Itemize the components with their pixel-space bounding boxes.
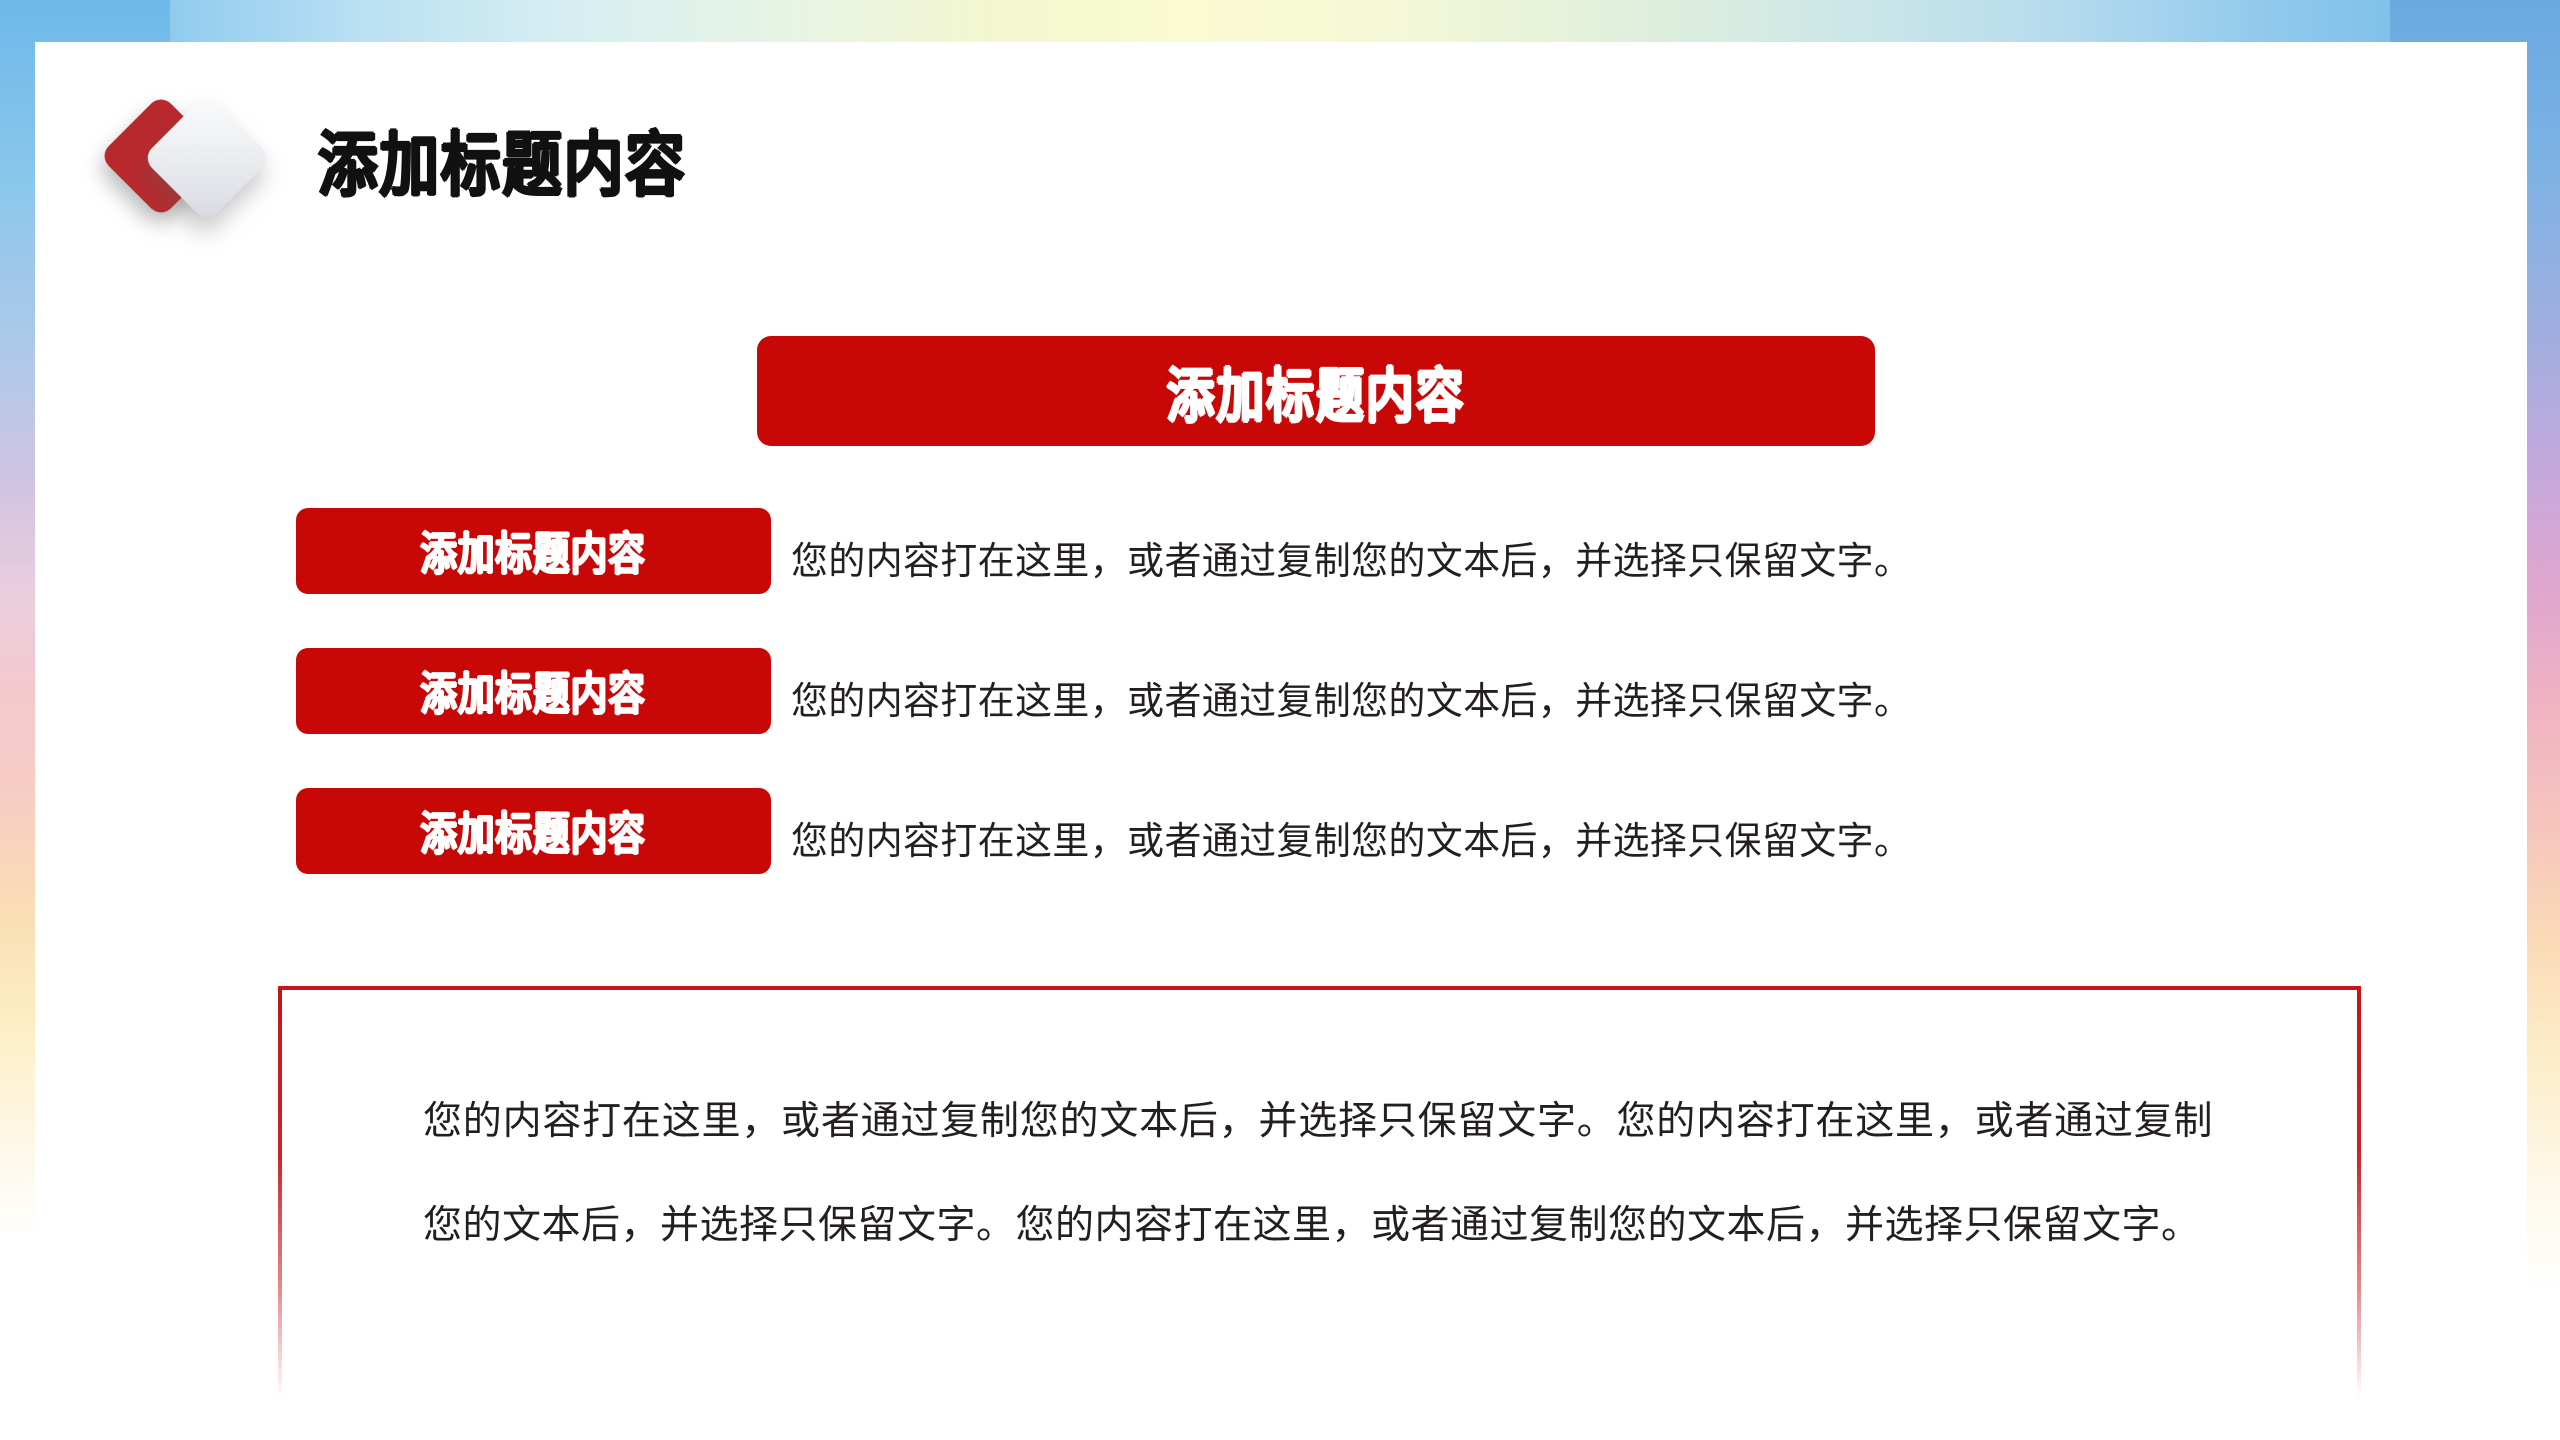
list-item: 添加标题内容 您的内容打在这里，或者通过复制您的文本后，并选择只保留文字。 <box>35 648 2527 738</box>
note-paragraph: 您的内容打在这里，或者通过复制您的文本后，并选择只保留文字。您的内容打在这里，或… <box>423 1070 2213 1278</box>
list-item: 添加标题内容 您的内容打在这里，或者通过复制您的文本后，并选择只保留文字。 <box>35 508 2527 598</box>
bullet-tag-button-1[interactable]: 添加标题内容 <box>296 508 771 594</box>
bullet-row-list: 添加标题内容 您的内容打在这里，或者通过复制您的文本后，并选择只保留文字。 添加… <box>35 508 2527 928</box>
note-panel-top-border <box>278 986 2361 990</box>
bullet-description-1: 您的内容打在这里，或者通过复制您的文本后，并选择只保留文字。 <box>791 530 1911 585</box>
bullet-tag-button-3[interactable]: 添加标题内容 <box>296 788 771 874</box>
bullet-description-2: 您的内容打在这里，或者通过复制您的文本后，并选择只保留文字。 <box>791 670 1911 725</box>
note-panel: 您的内容打在这里，或者通过复制您的文本后，并选择只保留文字。您的内容打在这里，或… <box>278 986 2361 1406</box>
note-panel-right-border <box>2357 986 2361 1406</box>
bullet-tag-label: 添加标题内容 <box>421 519 647 584</box>
bullet-tag-label: 添加标题内容 <box>421 799 647 864</box>
bullet-description-3: 您的内容打在这里，或者通过复制您的文本后，并选择只保留文字。 <box>791 810 1911 865</box>
list-item: 添加标题内容 您的内容打在这里，或者通过复制您的文本后，并选择只保留文字。 <box>35 788 2527 878</box>
bullet-tag-label: 添加标题内容 <box>421 659 647 724</box>
bullet-tag-button-2[interactable]: 添加标题内容 <box>296 648 771 734</box>
slide-header: 添加标题内容 <box>35 42 2527 232</box>
double-diamond-logo-icon <box>117 100 285 225</box>
main-title-banner-label: 添加标题内容 <box>1167 348 1466 434</box>
presentation-slide: 添加标题内容 添加标题内容 添加标题内容 您的内容打在这里，或者通过复制您的文本… <box>0 0 2560 1440</box>
main-title-banner[interactable]: 添加标题内容 <box>757 336 1875 446</box>
page-title: 添加标题内容 <box>318 130 687 201</box>
slide-content-card: 添加标题内容 添加标题内容 添加标题内容 您的内容打在这里，或者通过复制您的文本… <box>35 42 2527 1372</box>
note-panel-left-border <box>278 986 282 1406</box>
